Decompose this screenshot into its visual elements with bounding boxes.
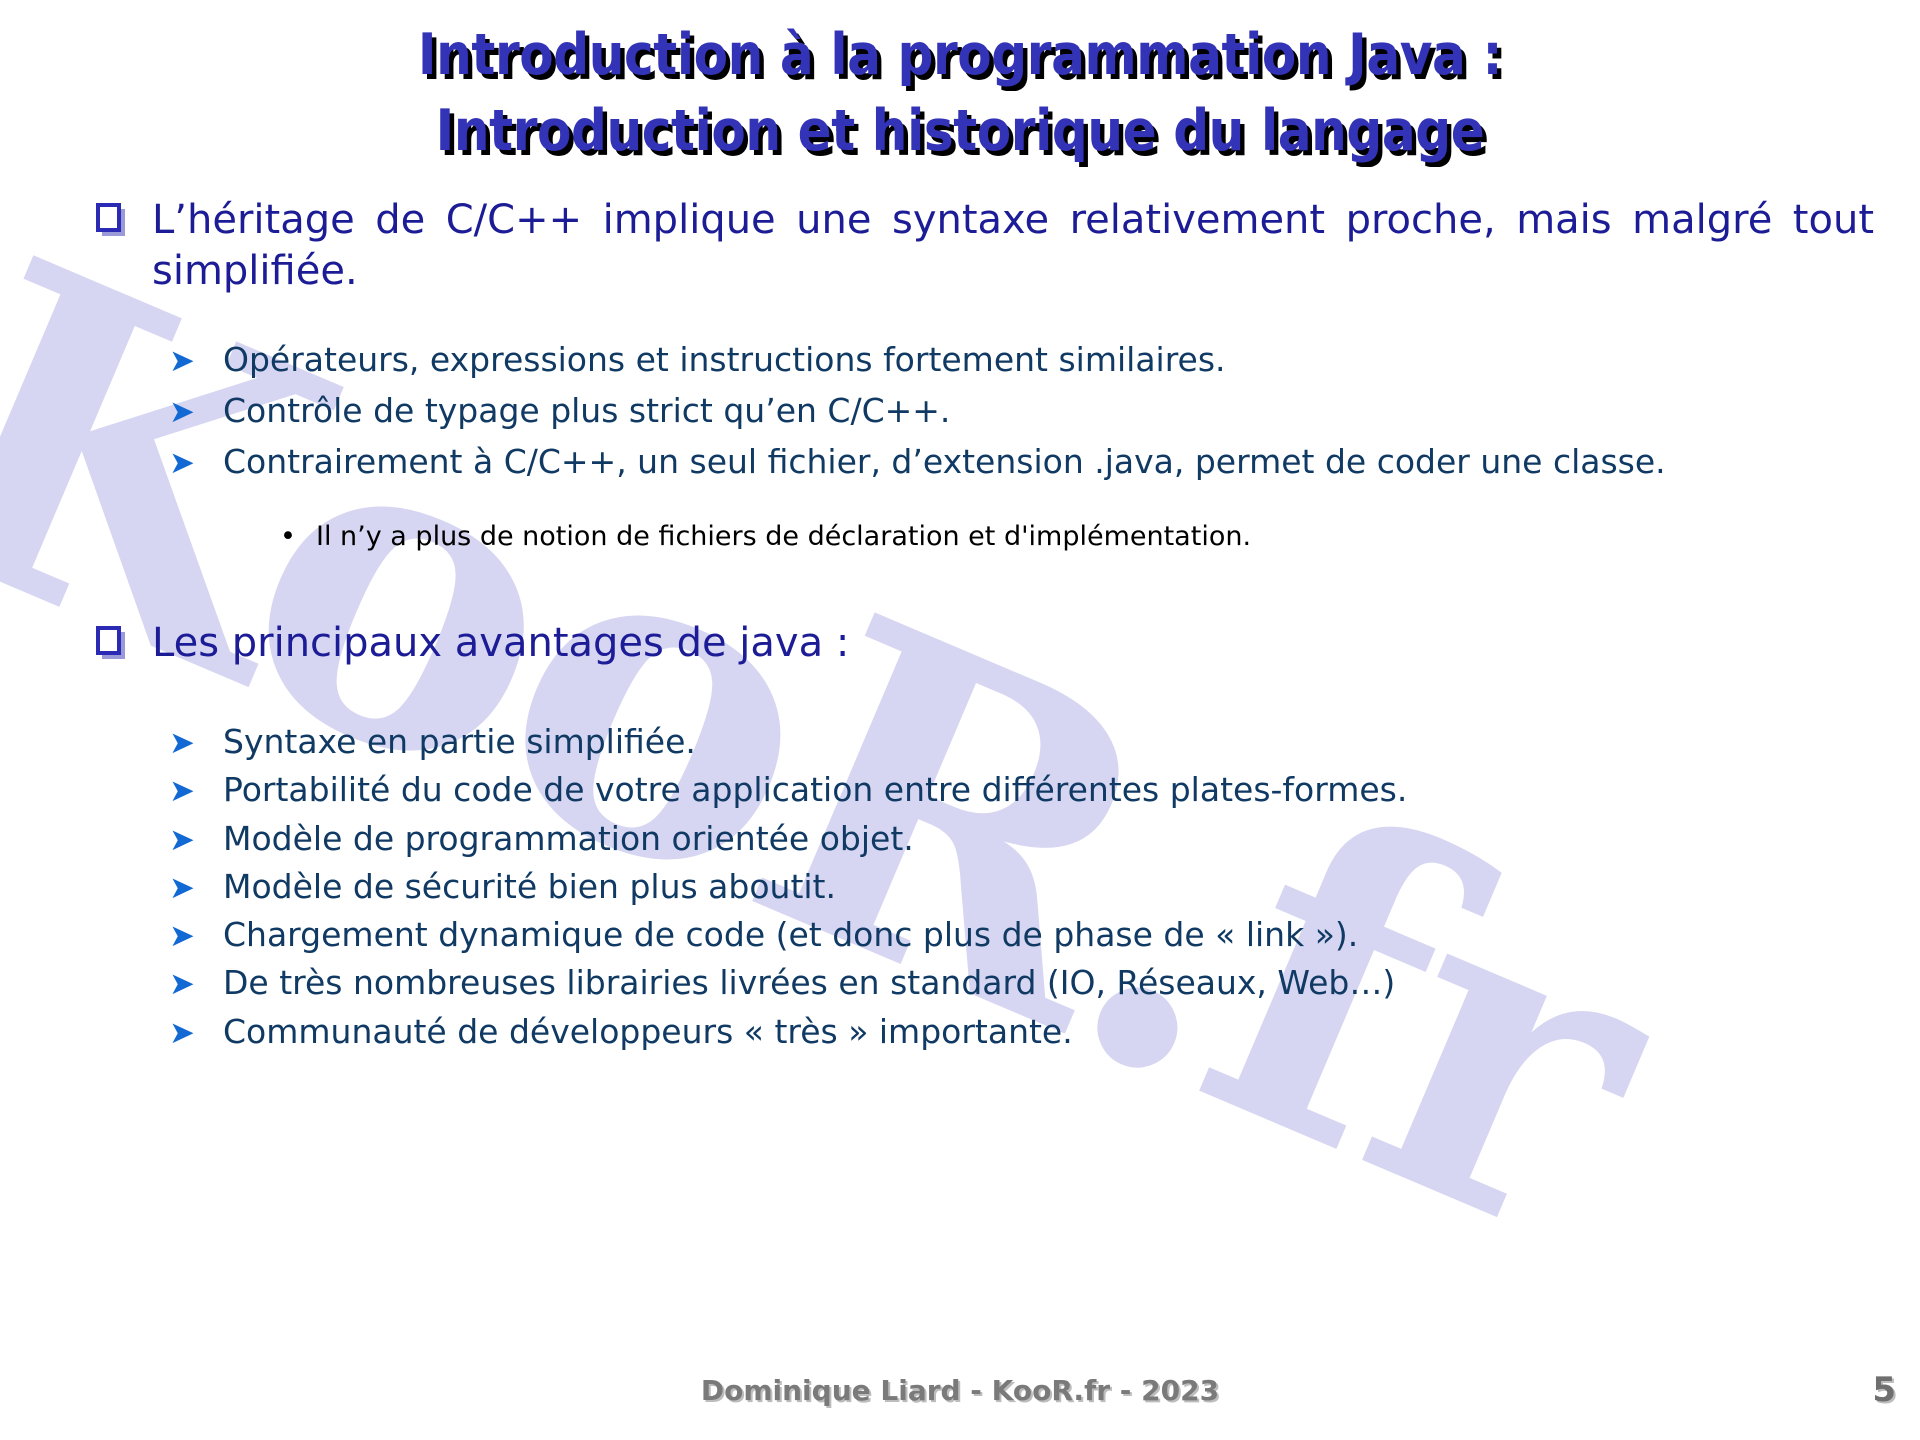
arrow-head-bullet-icon: ➤ xyxy=(169,1014,195,1054)
page-number: 5 xyxy=(1872,1370,1896,1410)
footer-credit: Dominique Liard - KooR.fr - 2023 xyxy=(0,1374,1920,1407)
slide-footer: Dominique Liard - KooR.fr - 2023 5 xyxy=(0,1368,1920,1428)
bullet-level2-librairies-text: De très nombreuses librairies livrées en… xyxy=(223,963,1395,1002)
bullet-level2-fichier-java: ➤ Contrairement à C/C++, un seul fichier… xyxy=(165,441,1880,483)
arrow-head-bullet-icon: ➤ xyxy=(169,393,195,433)
bullet-level2-fichier-java-text: Contrairement à C/C++, un seul fichier, … xyxy=(223,442,1666,481)
arrow-head-bullet-icon: ➤ xyxy=(169,444,195,484)
arrow-head-bullet-icon: ➤ xyxy=(169,917,195,957)
slide-canvas: KooR.fr Introduction à la programmation … xyxy=(0,0,1920,1440)
bullet-level2-syntaxe-text: Syntaxe en partie simplifiée. xyxy=(223,722,696,761)
bullet-level2-chargement-text: Chargement dynamique de code (et donc pl… xyxy=(223,915,1358,954)
round-dot-bullet-icon: • xyxy=(280,519,296,554)
bullet-level3-declaration: • Il n’y a plus de notion de fichiers de… xyxy=(270,519,1880,554)
arrow-head-bullet-icon: ➤ xyxy=(169,772,195,812)
section-heritage: L’héritage de C/C++ implique une syntaxe… xyxy=(0,195,1920,554)
hollow-square-bullet-icon xyxy=(96,626,121,655)
bullet-level2-communaute-text: Communauté de développeurs « très » impo… xyxy=(223,1012,1073,1051)
arrow-head-bullet-icon: ➤ xyxy=(169,821,195,861)
bullet-level1-heritage-text: L’héritage de C/C++ implique une syntaxe… xyxy=(152,197,1874,294)
bullet-level2-typage-text: Contrôle de typage plus strict qu’en C/C… xyxy=(223,391,950,430)
title-line-2: Introduction et historique du langage xyxy=(115,94,1805,170)
bullet-level2-syntaxe: ➤ Syntaxe en partie simplifiée. xyxy=(165,721,1880,763)
spacer xyxy=(0,669,1920,721)
bullet-level2-communaute: ➤ Communauté de développeurs « très » im… xyxy=(165,1011,1880,1053)
bullet-level1-avantages-text: Les principaux avantages de java : xyxy=(152,620,849,666)
slide-body: L’héritage de C/C++ implique une syntaxe… xyxy=(0,195,1920,1053)
bullet-level2-securite: ➤ Modèle de sécurité bien plus aboutit. xyxy=(165,866,1880,908)
bullet-level2-typage: ➤ Contrôle de typage plus strict qu’en C… xyxy=(165,390,1880,432)
spacer xyxy=(0,483,1920,519)
bullet-level2-modele-poo: ➤ Modèle de programmation orientée objet… xyxy=(165,818,1880,860)
slide-title: Introduction à la programmation Java : I… xyxy=(0,18,1920,170)
arrow-head-bullet-icon: ➤ xyxy=(169,965,195,1005)
title-line-1: Introduction à la programmation Java : xyxy=(115,18,1805,94)
bullet-level3-declaration-text: Il n’y a plus de notion de fichiers de d… xyxy=(316,521,1251,552)
bullet-level2-modele-poo-text: Modèle de programmation orientée objet. xyxy=(223,819,914,858)
arrow-head-bullet-icon: ➤ xyxy=(169,869,195,909)
spacer xyxy=(0,297,1920,339)
bullet-level2-securite-text: Modèle de sécurité bien plus aboutit. xyxy=(223,867,836,906)
arrow-head-bullet-icon: ➤ xyxy=(169,342,195,382)
bullet-level2-portabilite-text: Portabilité du code de votre application… xyxy=(223,770,1407,809)
bullet-level1-heritage: L’héritage de C/C++ implique une syntaxe… xyxy=(90,195,1874,297)
bullet-level2-chargement: ➤ Chargement dynamique de code (et donc … xyxy=(165,914,1880,956)
arrow-head-bullet-icon: ➤ xyxy=(169,724,195,764)
bullet-level2-operateurs: ➤ Opérateurs, expressions et instruction… xyxy=(165,339,1880,381)
bullet-level2-operateurs-text: Opérateurs, expressions et instructions … xyxy=(223,340,1226,379)
section-avantages: Les principaux avantages de java : ➤ Syn… xyxy=(0,618,1920,1052)
hollow-square-bullet-icon xyxy=(96,203,121,232)
bullet-level1-avantages: Les principaux avantages de java : xyxy=(90,618,1874,669)
spacer xyxy=(0,554,1920,618)
bullet-level2-librairies: ➤ De très nombreuses librairies livrées … xyxy=(165,962,1880,1004)
bullet-level2-portabilite: ➤ Portabilité du code de votre applicati… xyxy=(165,769,1880,811)
